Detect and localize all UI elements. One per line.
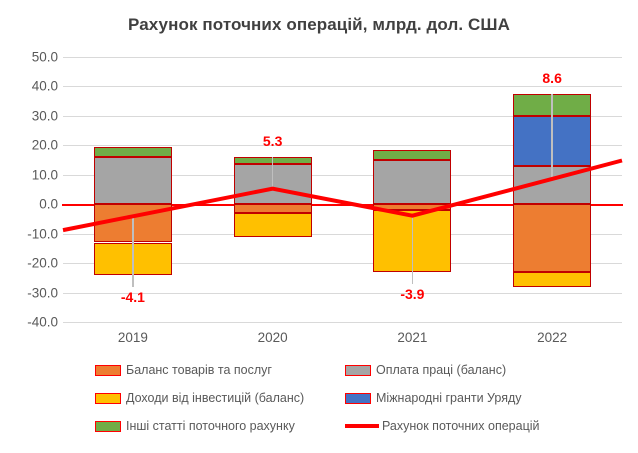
legend-swatch-other-icon [95,421,121,432]
legend-label: Доходи від інвестицій (баланс) [126,391,304,405]
y-axis-tick-label: 10.0 [6,167,58,182]
x-axis-tick-label: 2020 [203,330,343,345]
x-axis-tick-label: 2022 [482,330,622,345]
chart-legend: Баланс товарів та послугОплата праці (ба… [95,363,565,445]
chart-title: Рахунок поточних операцій, млрд. дол. СШ… [0,15,638,35]
line-data-label: 8.6 [512,70,592,86]
legend-item[interactable]: Рахунок поточних операцій [345,419,540,433]
legend-item[interactable]: Доходи від інвестицій (баланс) [95,391,304,405]
legend-line-marker-icon [345,424,379,428]
legend-swatch-invest-icon [95,393,121,404]
line-data-label: 5.3 [233,133,313,149]
legend-label: Баланс товарів та послуг [126,363,272,377]
y-axis-tick-label: 0.0 [6,197,58,212]
y-axis-tick-label: 30.0 [6,108,58,123]
line-data-label: -4.1 [93,289,173,305]
legend-label: Інші статті поточного рахунку [126,419,295,433]
legend-swatch-goods-icon [95,365,121,376]
y-axis: 50.040.030.020.010.00.0-10.0-20.0-30.0-4… [0,57,58,322]
plot-area [63,57,622,322]
gridline [63,322,622,323]
y-axis-tick-label: 50.0 [6,50,58,65]
legend-item[interactable]: Баланс товарів та послуг [95,363,272,377]
legend-label: Рахунок поточних операцій [382,419,540,433]
legend-label: Оплата праці (баланс) [376,363,506,377]
legend-swatch-grants-icon [345,393,371,404]
legend-item[interactable]: Міжнародні гранти Уряду [345,391,522,405]
y-axis-tick-label: -40.0 [6,315,58,330]
y-axis-tick-label: -20.0 [6,256,58,271]
y-axis-tick-label: 20.0 [6,138,58,153]
x-axis-tick-label: 2021 [342,330,482,345]
legend-item[interactable]: Оплата праці (баланс) [345,363,506,377]
y-axis-tick-label: -30.0 [6,285,58,300]
current-account-line [63,57,622,322]
current-account-chart: Рахунок поточних операцій, млрд. дол. СШ… [0,0,638,453]
line-data-label: -3.9 [372,286,452,302]
x-axis-tick-label: 2019 [63,330,203,345]
legend-label: Міжнародні гранти Уряду [376,391,522,405]
legend-swatch-wages-icon [345,365,371,376]
y-axis-tick-label: 40.0 [6,79,58,94]
y-axis-tick-label: -10.0 [6,226,58,241]
legend-item[interactable]: Інші статті поточного рахунку [95,419,295,433]
